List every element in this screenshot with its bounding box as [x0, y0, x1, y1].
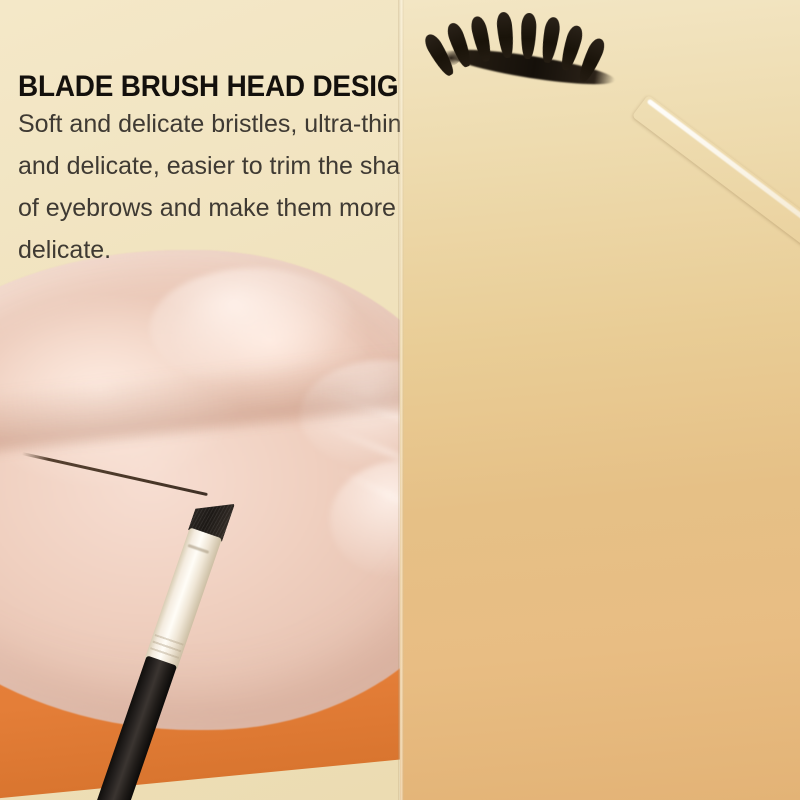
body-line: of eyebrows and make them more — [18, 187, 400, 229]
product-feature-poster: BLADE BRUSH HEAD DESIGN Soft and delicat… — [0, 0, 800, 800]
body-line: Soft and delicate bristles, ultra-thin — [18, 103, 400, 145]
back-of-hand-photo — [0, 250, 400, 730]
left-headline: BLADE BRUSH HEAD DESIGN — [18, 70, 400, 104]
right-panel: CURVATURE CAN BE ADJUSTED You can adjust… — [400, 0, 800, 800]
knuckle-highlight — [330, 460, 400, 580]
body-line: delicate. — [18, 229, 400, 271]
left-panel: BLADE BRUSH HEAD DESIGN Soft and delicat… — [0, 0, 400, 800]
bristle-tuft — [520, 13, 537, 59]
panel-divider — [398, 0, 404, 800]
body-line: and delicate, easier to trim the shape — [18, 145, 400, 187]
left-body-text: Soft and delicate bristles, ultra-thin a… — [18, 103, 400, 271]
spoolie-brush-photo — [400, 0, 800, 320]
spoolie-bristle-head — [420, 6, 620, 116]
bristle-tuft — [539, 16, 561, 64]
